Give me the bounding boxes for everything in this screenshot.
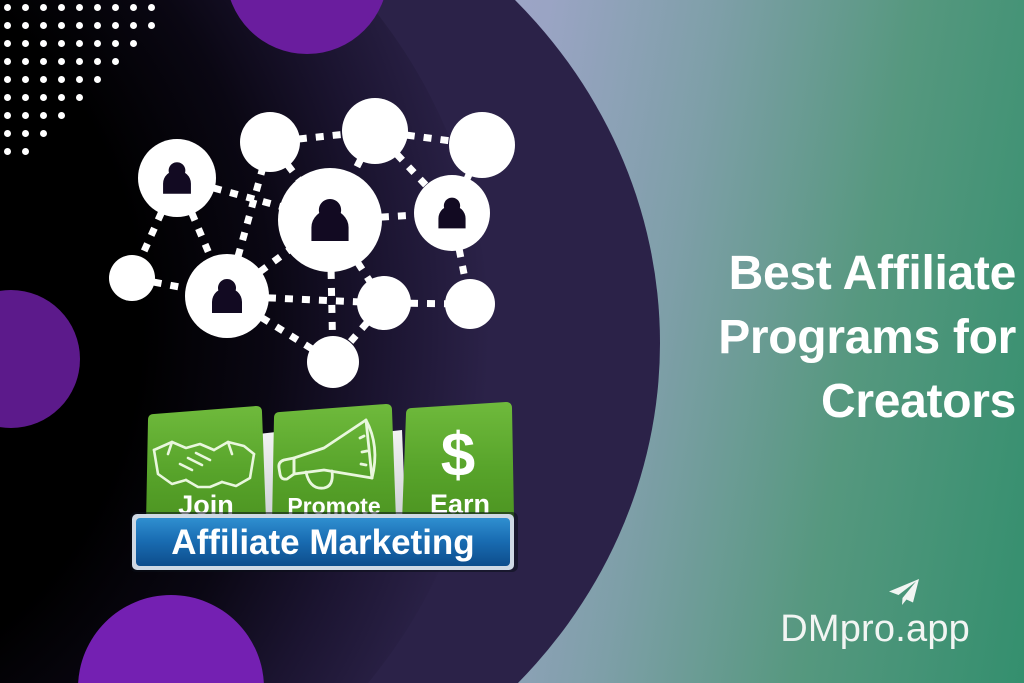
network-link	[459, 249, 465, 280]
grid-dot	[40, 112, 47, 119]
network-link	[154, 282, 187, 288]
network-node	[445, 279, 495, 329]
network-link	[260, 250, 289, 271]
network-link	[268, 298, 358, 302]
grid-dot	[94, 76, 101, 83]
network-link	[397, 154, 427, 186]
affiliate-marketing-graphic: Join Promote $ Earn	[128, 392, 520, 578]
grid-dot	[130, 4, 137, 11]
grid-dot	[22, 112, 29, 119]
affiliate-marketing-banner: Affiliate Marketing	[130, 512, 518, 572]
grid-dot	[40, 22, 47, 29]
network-node	[109, 255, 155, 301]
grid-dot	[4, 58, 11, 65]
network-node	[357, 276, 411, 330]
grid-dot	[148, 4, 155, 11]
network-node	[449, 112, 515, 178]
grid-dot	[40, 76, 47, 83]
network-node-person	[185, 254, 269, 338]
grid-dot	[4, 112, 11, 119]
people-network-icon	[90, 98, 550, 388]
network-node-person	[138, 139, 216, 217]
headline-line-1: Best Affiliate	[660, 242, 1016, 306]
network-link	[238, 170, 262, 257]
grid-dot	[22, 130, 29, 137]
headline-line-2: Programs for	[660, 306, 1016, 370]
grid-dot	[58, 112, 65, 119]
poster-canvas: Join Promote $ Earn	[0, 0, 1024, 683]
card-join: Join	[146, 406, 266, 530]
network-link	[141, 213, 161, 258]
grid-dot	[22, 76, 29, 83]
network-link	[299, 134, 343, 139]
network-node	[342, 98, 408, 164]
grid-dot	[4, 4, 11, 11]
grid-dot	[58, 40, 65, 47]
network-link	[381, 215, 415, 217]
grid-dot	[76, 94, 83, 101]
grid-dot	[22, 58, 29, 65]
grid-dot	[22, 94, 29, 101]
headline-line-3: Creators	[660, 370, 1016, 434]
network-link	[288, 165, 299, 180]
card-earn: $ Earn	[402, 402, 514, 528]
grid-dot	[58, 94, 65, 101]
grid-dot	[58, 4, 65, 11]
grid-dot	[4, 76, 11, 83]
network-link	[262, 318, 312, 349]
grid-dot	[76, 4, 83, 11]
grid-dot	[76, 58, 83, 65]
page-title: Best Affiliate Programs for Creators	[660, 242, 1016, 433]
network-link	[214, 188, 281, 206]
grid-dot	[4, 22, 11, 29]
grid-dot	[112, 40, 119, 47]
paper-plane-icon	[886, 578, 920, 606]
network-link	[358, 263, 370, 281]
network-link	[192, 213, 211, 258]
network-link	[349, 323, 367, 343]
network-node	[240, 112, 300, 172]
grid-dot	[112, 22, 119, 29]
grid-dot	[130, 40, 137, 47]
card-promote: Promote	[272, 404, 396, 530]
grid-dot	[130, 22, 137, 29]
grid-dot	[58, 58, 65, 65]
brand-logo: DMpro.app	[760, 578, 970, 648]
grid-dot	[94, 58, 101, 65]
grid-dot	[58, 22, 65, 29]
banner-label: Affiliate Marketing	[171, 523, 474, 562]
grid-dot	[148, 22, 155, 29]
grid-dot	[94, 22, 101, 29]
grid-dot	[22, 4, 29, 11]
network-node-person	[278, 168, 382, 272]
grid-dot	[76, 40, 83, 47]
grid-dot	[40, 94, 47, 101]
network-link	[353, 160, 361, 175]
network-link	[331, 271, 332, 337]
grid-dot	[4, 148, 11, 155]
grid-dot	[22, 40, 29, 47]
grid-dot	[94, 4, 101, 11]
grid-dot	[4, 40, 11, 47]
grid-dot	[4, 94, 11, 101]
grid-dot	[40, 130, 47, 137]
grid-dot	[22, 148, 29, 155]
grid-dot	[58, 76, 65, 83]
network-node	[307, 336, 359, 388]
network-link	[407, 135, 451, 141]
grid-dot	[40, 4, 47, 11]
logo-text: DMpro.app	[780, 610, 970, 648]
grid-dot	[4, 130, 11, 137]
grid-dot	[76, 76, 83, 83]
grid-dot	[22, 22, 29, 29]
grid-dot	[112, 4, 119, 11]
grid-dot	[40, 40, 47, 47]
network-node-person	[414, 175, 490, 251]
dollar-sign-icon: $	[441, 421, 475, 490]
grid-dot	[76, 22, 83, 29]
grid-dot	[94, 40, 101, 47]
grid-dot	[40, 58, 47, 65]
grid-dot	[112, 58, 119, 65]
